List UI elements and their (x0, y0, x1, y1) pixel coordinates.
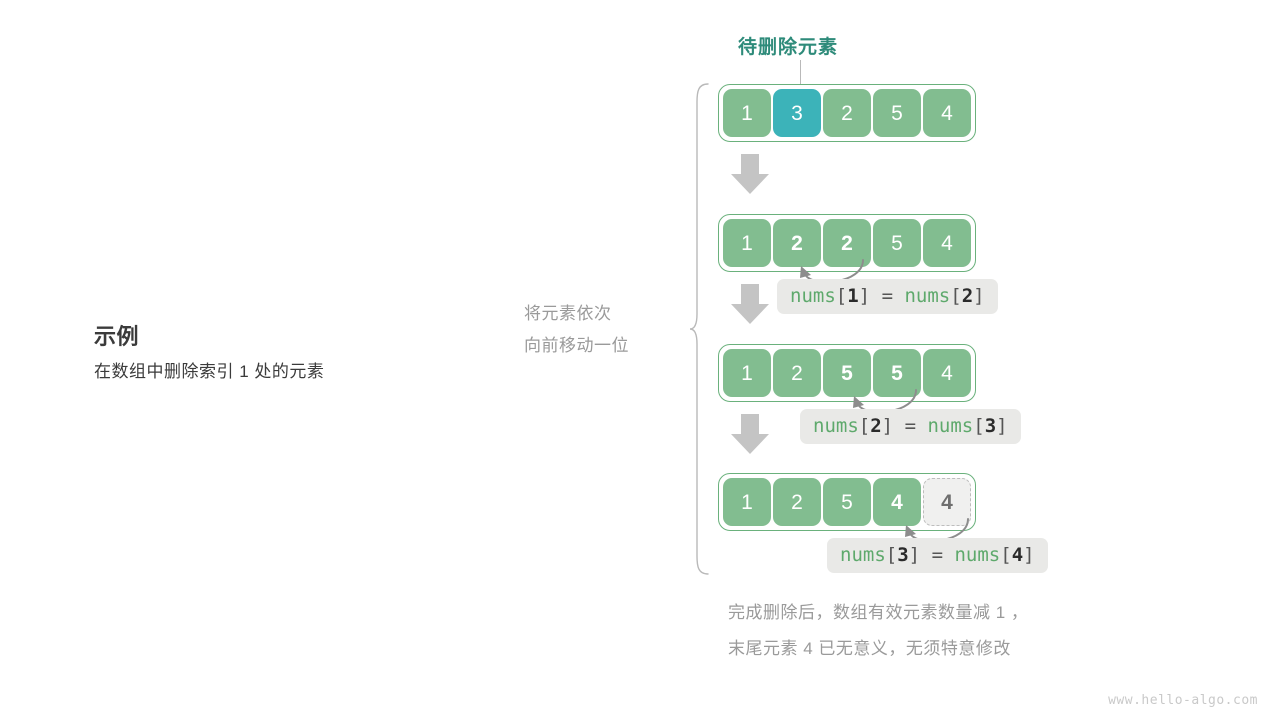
code-rhs-index: 2 (962, 285, 973, 307)
array-cell[interactable]: 2 (773, 478, 821, 526)
array-cell[interactable]: 1 (723, 219, 771, 267)
footer-caption: 完成删除后，数组有效元素数量减 1 ， 末尾元素 4 已无意义，无须特意修改 (728, 595, 1028, 667)
array-cell[interactable]: 4 (923, 219, 971, 267)
down-arrow-icon (728, 412, 772, 456)
code-rhs-index: 3 (985, 415, 996, 437)
code-operator: = (932, 544, 943, 566)
down-arrow-icon (728, 152, 772, 196)
code-lhs-name: nums (813, 415, 859, 437)
shift-annotation: 将元素依次 向前移动一位 (524, 298, 684, 362)
array-row-step-2: 1 2 5 5 4 (718, 344, 976, 402)
shift-annotation-line2: 向前移动一位 (524, 330, 684, 362)
code-label-step-2: nums[2] = nums[3] (800, 409, 1021, 444)
array-cell[interactable]: 2 (773, 349, 821, 397)
code-lhs-index: 3 (897, 544, 908, 566)
array-cell[interactable]: 4 (923, 349, 971, 397)
array-frame: 1 2 5 5 4 (718, 344, 976, 402)
code-operator: = (905, 415, 916, 437)
grouping-brace-icon (688, 82, 714, 576)
highlight-caption: 待删除元素 (738, 32, 838, 59)
example-title: 示例 (94, 322, 474, 352)
array-cell[interactable]: 5 (873, 219, 921, 267)
code-operator: = (882, 285, 893, 307)
code-lhs-name: nums (840, 544, 886, 566)
array-cell[interactable]: 5 (873, 89, 921, 137)
code-lhs-index: 1 (847, 285, 858, 307)
array-frame: 1 3 2 5 4 (718, 84, 976, 142)
array-cell[interactable]: 1 (723, 349, 771, 397)
array-cell[interactable]: 1 (723, 89, 771, 137)
down-arrow-icon (728, 282, 772, 326)
array-row-initial: 1 3 2 5 4 (718, 84, 976, 142)
array-cell[interactable]: 1 (723, 478, 771, 526)
code-rhs-name: nums (954, 544, 1000, 566)
footer-caption-line2: 末尾元素 4 已无意义，无须特意修改 (728, 631, 1028, 667)
code-label-step-3: nums[3] = nums[4] (827, 538, 1048, 573)
code-rhs-name: nums (927, 415, 973, 437)
code-lhs-name: nums (790, 285, 836, 307)
array-cell[interactable]: 2 (823, 89, 871, 137)
shift-annotation-line1: 将元素依次 (524, 298, 684, 330)
code-lhs-index: 2 (870, 415, 881, 437)
diagram-canvas: 待删除元素 示例 在数组中删除索引 1 处的元素 将元素依次 向前移动一位 1 … (0, 0, 1280, 720)
code-label-step-1: nums[1] = nums[2] (777, 279, 998, 314)
array-cell[interactable]: 4 (923, 89, 971, 137)
code-rhs-index: 4 (1012, 544, 1023, 566)
example-subtitle: 在数组中删除索引 1 处的元素 (94, 358, 474, 386)
footer-caption-line1: 完成删除后，数组有效元素数量减 1 ， (728, 595, 1028, 631)
example-panel: 示例 在数组中删除索引 1 处的元素 (94, 322, 474, 386)
watermark: www.hello-algo.com (1108, 693, 1258, 708)
array-cell-highlighted[interactable]: 3 (773, 89, 821, 137)
array-cell[interactable]: 5 (823, 478, 871, 526)
code-rhs-name: nums (904, 285, 950, 307)
